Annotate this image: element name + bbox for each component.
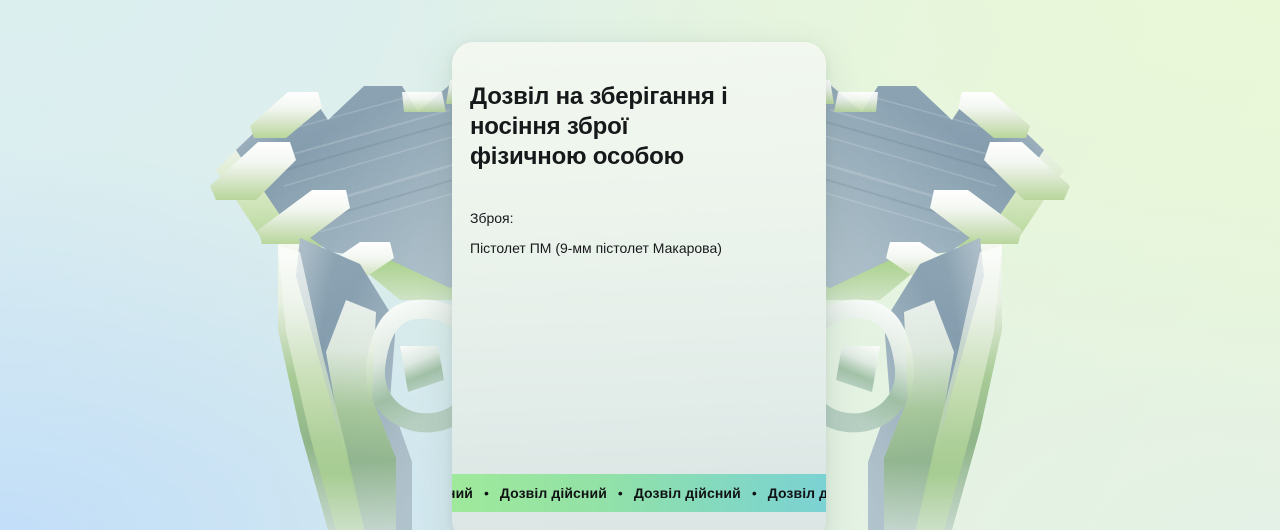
- pistol-makarov-left: [150, 0, 490, 530]
- marquee-track: Дозвіл дійсний•Дозвіл дійсний•Дозвіл дій…: [452, 485, 826, 501]
- weapon-value: Пістолет ПМ (9-мм пістолет Макарова): [470, 238, 808, 258]
- marquee-item: Дозвіл дійсний: [634, 485, 741, 501]
- marquee-separator-dot: •: [618, 485, 623, 501]
- marquee-item: Дозвіл дійсний: [768, 485, 826, 501]
- weapon-info-block: Зброя: Пістолет ПМ (9-мм пістолет Макаро…: [470, 208, 808, 258]
- app-screen: Дозвіл на зберігання і носіння зброї фіз…: [0, 0, 1280, 530]
- pistol-right-icon: [790, 0, 1130, 530]
- pistol-left-icon: [150, 0, 490, 530]
- permit-card[interactable]: Дозвіл на зберігання і носіння зброї фіз…: [452, 42, 826, 530]
- weapon-label: Зброя:: [470, 208, 808, 228]
- marquee-separator-dot: •: [484, 485, 489, 501]
- marquee-item: Дозвіл дійсний: [500, 485, 607, 501]
- permit-title: Дозвіл на зберігання і носіння зброї фіз…: [470, 82, 808, 172]
- marquee-separator-dot: •: [752, 485, 757, 501]
- permit-valid-marquee: Дозвіл дійсний•Дозвіл дійсний•Дозвіл дій…: [452, 474, 826, 512]
- permit-card-body: Дозвіл на зберігання і носіння зброї фіз…: [452, 42, 826, 258]
- marquee-item: Дозвіл дійсний: [452, 485, 473, 501]
- pistol-makarov-right: [790, 0, 1130, 530]
